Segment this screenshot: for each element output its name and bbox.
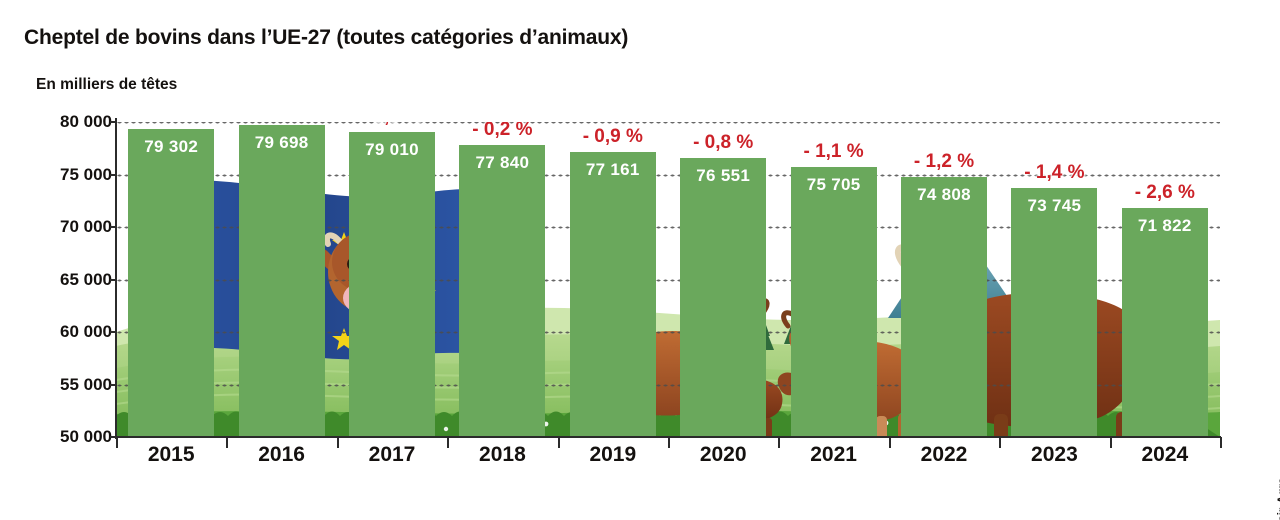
bar-pct-change-2024: - 2,6 % <box>1105 182 1220 204</box>
page-title: Cheptel de bovins dans l’UE-27 (toutes c… <box>24 26 628 50</box>
bar-2016[interactable]: 79 698 <box>239 125 325 437</box>
x-axis-label-2017: 2017 <box>369 443 416 467</box>
y-axis-tick-label: 75 000 <box>6 165 112 185</box>
bar-value-label: 76 551 <box>680 166 766 186</box>
y-axis-tick-label: 60 000 <box>6 322 112 342</box>
bar-pct-change-2023: - 1,4 % <box>994 162 1114 184</box>
bar-value-label: 79 698 <box>239 133 325 153</box>
x-axis-label-2016: 2016 <box>258 443 305 467</box>
bar-value-label: 75 705 <box>791 175 877 195</box>
infographic-root: Cheptel de bovins dans l’UE-27 (toutes c… <box>0 0 1280 520</box>
x-axis-label-2019: 2019 <box>589 443 636 467</box>
y-axis-tick-label: 70 000 <box>6 217 112 237</box>
bar-2015[interactable]: 79 302 <box>128 129 214 437</box>
bar-value-label: 77 161 <box>570 160 656 180</box>
bar-2019[interactable]: 77 161 <box>570 152 656 437</box>
y-axis-tick-label: 55 000 <box>6 375 112 395</box>
bar-2024[interactable]: 71 822 <box>1122 208 1208 437</box>
x-axis-label-2015: 2015 <box>148 443 195 467</box>
y-axis-line <box>115 118 117 439</box>
bar-pct-change-2020: - 0,8 % <box>663 132 783 154</box>
bar-value-label: 71 822 <box>1122 216 1208 236</box>
y-axis-tick-label: 50 000 <box>6 427 112 447</box>
bar-pct-change-2018: - 0,2 % <box>442 122 562 141</box>
bar-2023[interactable]: 73 745 <box>1011 188 1097 437</box>
y-axis-labels: 80 00075 00070 00065 00060 00055 00050 0… <box>0 0 112 520</box>
bar-2020[interactable]: 76 551 <box>680 158 766 437</box>
bar-series: 79 30279 698+ 0,5 %79 010- 0,9 %77 840- … <box>116 122 1220 437</box>
bar-2017[interactable]: 79 010 <box>349 132 435 437</box>
bar-2018[interactable]: 77 840 <box>459 145 545 437</box>
bar-value-label: 79 010 <box>349 140 435 160</box>
bar-pct-change-2019: - 0,9 % <box>553 126 673 148</box>
x-axis-label-2023: 2023 <box>1031 443 1078 467</box>
bar-value-label: 79 302 <box>128 137 214 157</box>
plot-area: 79 30279 698+ 0,5 %79 010- 0,9 %77 840- … <box>116 122 1220 437</box>
bar-pct-change-2017: - 0,9 % <box>332 122 452 128</box>
y-axis-tick-label: 65 000 <box>6 270 112 290</box>
x-axis-label-2022: 2022 <box>921 443 968 467</box>
x-axis-label-2024: 2024 <box>1141 443 1188 467</box>
x-axis-label-2018: 2018 <box>479 443 526 467</box>
bar-value-label: 77 840 <box>459 153 545 173</box>
bar-pct-change-2022: - 1,2 % <box>884 151 1004 173</box>
bar-value-label: 73 745 <box>1011 196 1097 216</box>
bar-value-label: 74 808 <box>901 185 987 205</box>
y-axis-tick-label: 80 000 <box>6 112 112 132</box>
bar-pct-change-2021: - 1,1 % <box>774 141 894 163</box>
bar-2022[interactable]: 74 808 <box>901 177 987 437</box>
x-axis-label-2020: 2020 <box>700 443 747 467</box>
x-axis-labels: 2015201620172018201920202021202220232024 <box>116 443 1221 479</box>
bar-2021[interactable]: 75 705 <box>791 167 877 437</box>
x-axis-label-2021: 2021 <box>810 443 857 467</box>
